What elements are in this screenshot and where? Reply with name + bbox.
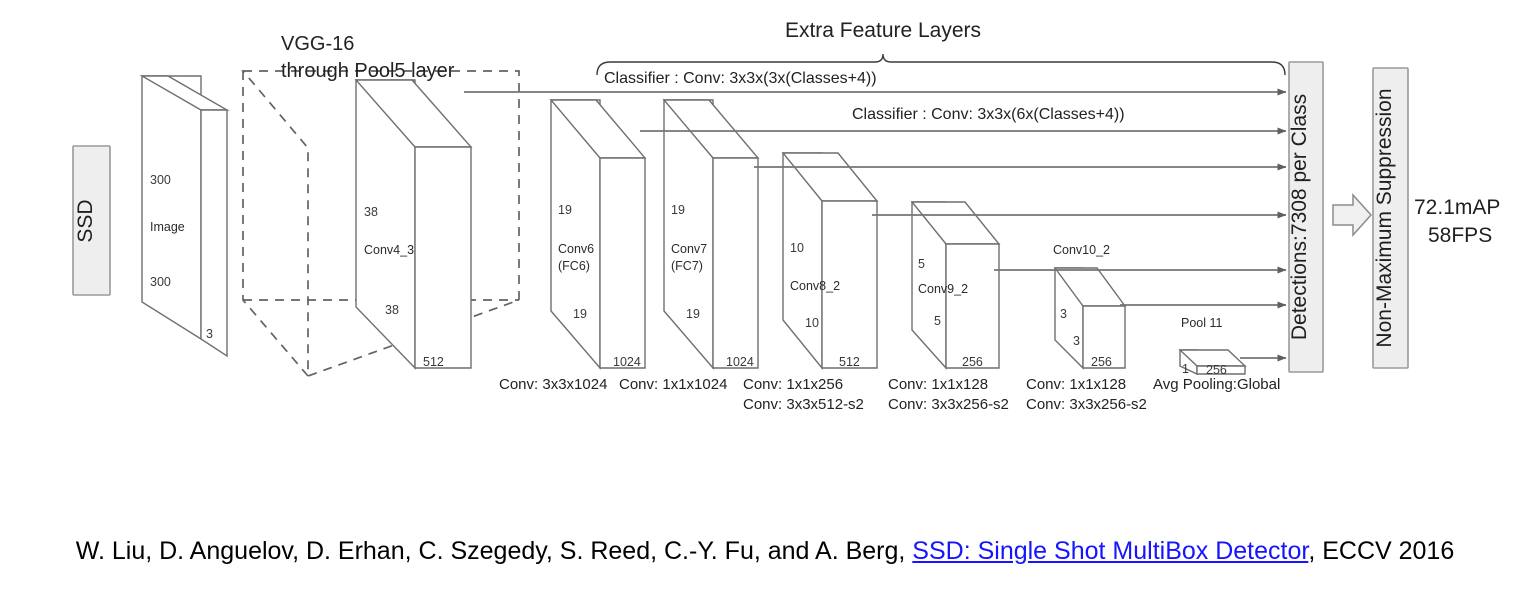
extra-feature-layers-group: Extra Feature Layers	[597, 19, 1285, 75]
detections-box-label: Detections:7308 per Class	[1288, 94, 1311, 340]
block-conv7: 19 Conv7 (FC7) 19 1024	[664, 100, 758, 369]
conv10_2-block-name: Conv10_2	[1053, 243, 1110, 257]
conv10_2-depth: 256	[1091, 355, 1112, 369]
conv9_2-dim-bottom: 5	[934, 314, 941, 328]
conv7-side-face	[713, 158, 758, 368]
conv-annotation-pool11: Avg Pooling:Global	[1153, 376, 1280, 393]
pool11-dim-top: 1	[1182, 362, 1189, 376]
block-conv4-3: 38 Conv4_3 38 512	[356, 80, 471, 369]
metric-fps-label: 58FPS	[1428, 224, 1492, 247]
vgg16-label-line2: through Pool5 layer	[281, 60, 455, 82]
conv4_3-depth: 512	[423, 355, 444, 369]
pool11-block-name: Pool 11	[1181, 316, 1223, 330]
conv-annotation-conv6: Conv: 3x3x1024	[499, 376, 607, 393]
nms-box: Non-Maximum Suppression	[1373, 68, 1408, 368]
vgg16-label-line1: VGG-16	[281, 33, 354, 55]
conv6-side-face	[600, 158, 645, 368]
conv9_2-dim-top: 5	[918, 257, 925, 271]
classifier-label-top: Classifier : Conv: 3x3x(3x(Classes+4))	[604, 70, 877, 87]
conv4_3-dim-top: 38	[364, 205, 378, 219]
block-conv9-2: 5 Conv9_2 5 256	[912, 202, 999, 369]
citation-suffix: , ECCV 2016	[1308, 537, 1454, 565]
conv6-block-name-l1: Conv6	[558, 242, 594, 256]
citation-line: W. Liu, D. Anguelov, D. Erhan, C. Szeged…	[0, 536, 1530, 566]
ssd-box-label: SSD	[74, 199, 97, 242]
conv6-block-name-l2: (FC6)	[558, 259, 590, 273]
conv-annotation-conv10-2-b: Conv: 3x3x256-s2	[1026, 396, 1147, 413]
citation-paper-link[interactable]: SSD: Single Shot MultiBox Detector	[912, 537, 1308, 565]
conv9_2-block-name: Conv9_2	[918, 282, 968, 296]
conv9_2-side-face	[946, 244, 999, 368]
block-pool11: Pool 11 1 256	[1180, 316, 1245, 377]
ssd-label-box: SSD	[73, 146, 110, 295]
conv7-dim-top: 19	[671, 203, 685, 217]
conv-annotation-conv8-2: Conv: 1x1x256	[743, 376, 843, 393]
nms-box-label: Non-Maximum Suppression	[1373, 88, 1396, 347]
conv4_3-block-name: Conv4_3	[364, 243, 414, 257]
conv7-dim-bottom: 19	[686, 307, 700, 321]
detections-box: Detections:7308 per Class	[1288, 62, 1323, 372]
block-conv10-2: Conv10_2 3 3 256	[1053, 243, 1125, 369]
conv6-dim-bottom: 19	[573, 307, 587, 321]
image-dim-bottom: 300	[150, 275, 171, 289]
conv-annotation-conv9-2-b: Conv: 3x3x256-s2	[888, 396, 1009, 413]
image-side-face	[201, 110, 227, 356]
conv-annotation-conv7: Conv: 1x1x1024	[619, 376, 727, 393]
extra-feature-layers-title: Extra Feature Layers	[785, 19, 981, 42]
conv4_3-dim-bottom: 38	[385, 303, 399, 317]
conv6-depth: 1024	[613, 355, 641, 369]
conv-annotation-conv9-2: Conv: 1x1x128	[888, 376, 988, 393]
image-block-name: Image	[150, 220, 185, 234]
conv-annotations: Conv: 3x3x1024 Conv: 1x1x1024 Conv: 1x1x…	[499, 376, 1280, 413]
conv9_2-depth: 256	[962, 355, 983, 369]
image-depth: 3	[206, 327, 213, 341]
conv8_2-depth: 512	[839, 355, 860, 369]
conv7-block-name-l1: Conv7	[671, 242, 707, 256]
conv8_2-dim-top: 10	[790, 241, 804, 255]
metric-map-label: 72.1mAP	[1414, 196, 1500, 219]
conv8_2-block-name: Conv8_2	[790, 279, 840, 293]
citation-prefix: W. Liu, D. Anguelov, D. Erhan, C. Szeged…	[76, 537, 913, 565]
conv4_3-side-face	[415, 147, 471, 368]
block-image: 300 Image 300 3	[142, 76, 227, 356]
image-front-face	[142, 76, 201, 339]
conv10_2-dim-bottom: 3	[1073, 334, 1080, 348]
block-conv8-2: 10 Conv8_2 10 512	[783, 153, 877, 369]
conv-annotation-conv8-2-b: Conv: 3x3x512-s2	[743, 396, 864, 413]
conv7-block-name-l2: (FC7)	[671, 259, 703, 273]
conv6-dim-top: 19	[558, 203, 572, 217]
conv-annotation-conv10-2: Conv: 1x1x128	[1026, 376, 1126, 393]
conv8_2-dim-bottom: 10	[805, 316, 819, 330]
image-dim-top: 300	[150, 173, 171, 187]
classifier-label-second: Classifier : Conv: 3x3x(6x(Classes+4))	[852, 106, 1125, 123]
conv7-depth: 1024	[726, 355, 754, 369]
flow-arrow-icon	[1333, 195, 1371, 235]
conv10_2-dim-top: 3	[1060, 307, 1067, 321]
block-conv6: 19 Conv6 (FC6) 19 1024	[551, 100, 645, 369]
pool11-depth: 256	[1206, 363, 1227, 377]
